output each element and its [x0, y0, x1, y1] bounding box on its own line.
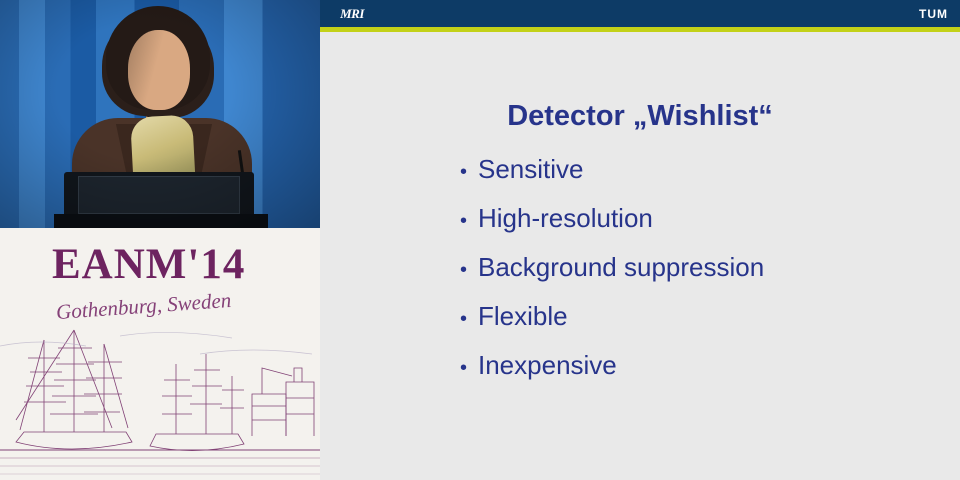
- slide-bullet-list: • Sensitive • High-resolution • Backgrou…: [460, 154, 940, 399]
- bullet-label: Background suppression: [478, 252, 764, 283]
- video-player-frame: EANM'14 Gothenburg, Sweden: [0, 0, 960, 480]
- slide-header-bar: [320, 0, 960, 27]
- mri-logo: MRI: [328, 6, 376, 21]
- bullet-label: Flexible: [478, 301, 568, 332]
- list-item: • Background suppression: [460, 252, 940, 283]
- presentation-slide-pane: MRI TUM Detector „Wishlist“ • Sensitive …: [320, 0, 960, 480]
- conference-poster: EANM'14 Gothenburg, Sweden: [0, 228, 320, 480]
- bullet-label: High-resolution: [478, 203, 653, 234]
- bullet-label: Inexpensive: [478, 350, 617, 381]
- bullet-marker-icon: •: [460, 309, 478, 329]
- list-item: • Flexible: [460, 301, 940, 332]
- slide-title: Detector „Wishlist“: [320, 100, 960, 133]
- harbour-ships-illustration: [0, 324, 320, 480]
- list-item: • Sensitive: [460, 154, 940, 185]
- bullet-label: Sensitive: [478, 154, 584, 185]
- speaker-video-pane: EANM'14 Gothenburg, Sweden: [0, 0, 320, 480]
- bullet-marker-icon: •: [460, 211, 478, 231]
- list-item: • Inexpensive: [460, 350, 940, 381]
- bullet-marker-icon: •: [460, 162, 478, 182]
- list-item: • High-resolution: [460, 203, 940, 234]
- poster-subtitle: Gothenburg, Sweden: [55, 288, 232, 325]
- speaker-camera-view: [0, 0, 320, 228]
- bullet-marker-icon: •: [460, 260, 478, 280]
- poster-artwork: [0, 324, 320, 480]
- camera-vignette: [0, 0, 320, 228]
- slide-content-area: Detector „Wishlist“ • Sensitive • High-r…: [320, 32, 960, 480]
- bullet-marker-icon: •: [460, 358, 478, 378]
- poster-title: EANM'14: [52, 240, 245, 289]
- tum-logo: TUM: [919, 7, 948, 21]
